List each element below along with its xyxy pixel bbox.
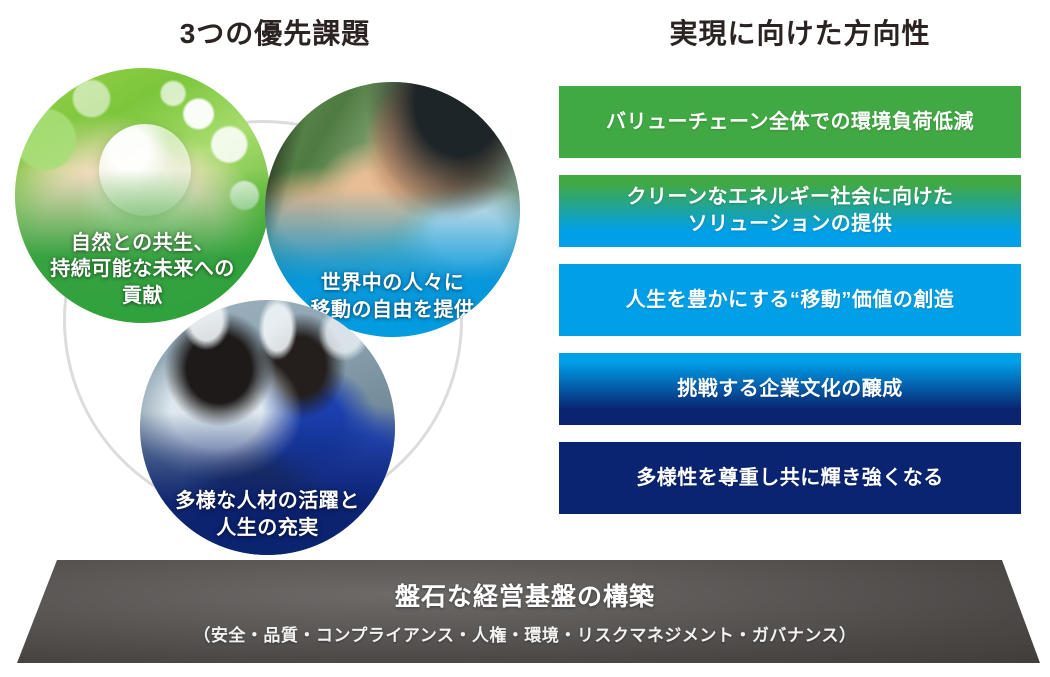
priority-caption-people: 多様な人材の活躍と 人生の充実	[140, 488, 395, 555]
infographic-stage: 3つの優先課題 実現に向けた方向性 自然との共生、 持続可能な未来への 貢献 世…	[0, 0, 1050, 677]
priority-circle-mobility: 世界中の人々に 移動の自由を提供	[265, 82, 520, 337]
priority-circle-nature: 自然との共生、 持続可能な未来への 貢献	[15, 68, 270, 323]
direction-bar: 人生を豊かにする“移動”価値の創造	[559, 264, 1021, 336]
direction-bar: バリューチェーン全体での環境負荷低減	[559, 86, 1021, 158]
direction-bar-label: クリーンなエネルギー社会に向けた ソリューションの提供	[627, 184, 954, 238]
direction-bar-label: 人生を豊かにする“移動”価値の創造	[626, 287, 955, 314]
foundation-subtitle: （安全・品質・コンプライアンス・人権・環境・リスクマネジメント・ガバナンス）	[193, 621, 856, 646]
direction-bar-label: バリューチェーン全体での環境負荷低減	[606, 109, 974, 136]
direction-bar-label: 多様性を尊重し共に輝き強くなる	[636, 465, 944, 492]
foundation-banner: 盤石な経営基盤の構築 （安全・品質・コンプライアンス・人権・環境・リスクマネジメ…	[0, 560, 1050, 663]
priorities-heading: 3つの優先課題	[0, 12, 550, 52]
priority-circle-people: 多様な人材の活躍と 人生の充実	[140, 300, 395, 555]
direction-bar-list: バリューチェーン全体での環境負荷低減 クリーンなエネルギー社会に向けた ソリュー…	[559, 86, 1021, 514]
direction-bar-label: 挑戦する企業文化の醸成	[677, 376, 903, 403]
foundation-title: 盤石な経営基盤の構築	[395, 577, 655, 613]
direction-bar: 多様性を尊重し共に輝き強くなる	[559, 442, 1021, 514]
directions-heading: 実現に向けた方向性	[550, 12, 1050, 52]
direction-bar: 挑戦する企業文化の醸成	[559, 353, 1021, 425]
direction-bar: クリーンなエネルギー社会に向けた ソリューションの提供	[559, 175, 1021, 247]
